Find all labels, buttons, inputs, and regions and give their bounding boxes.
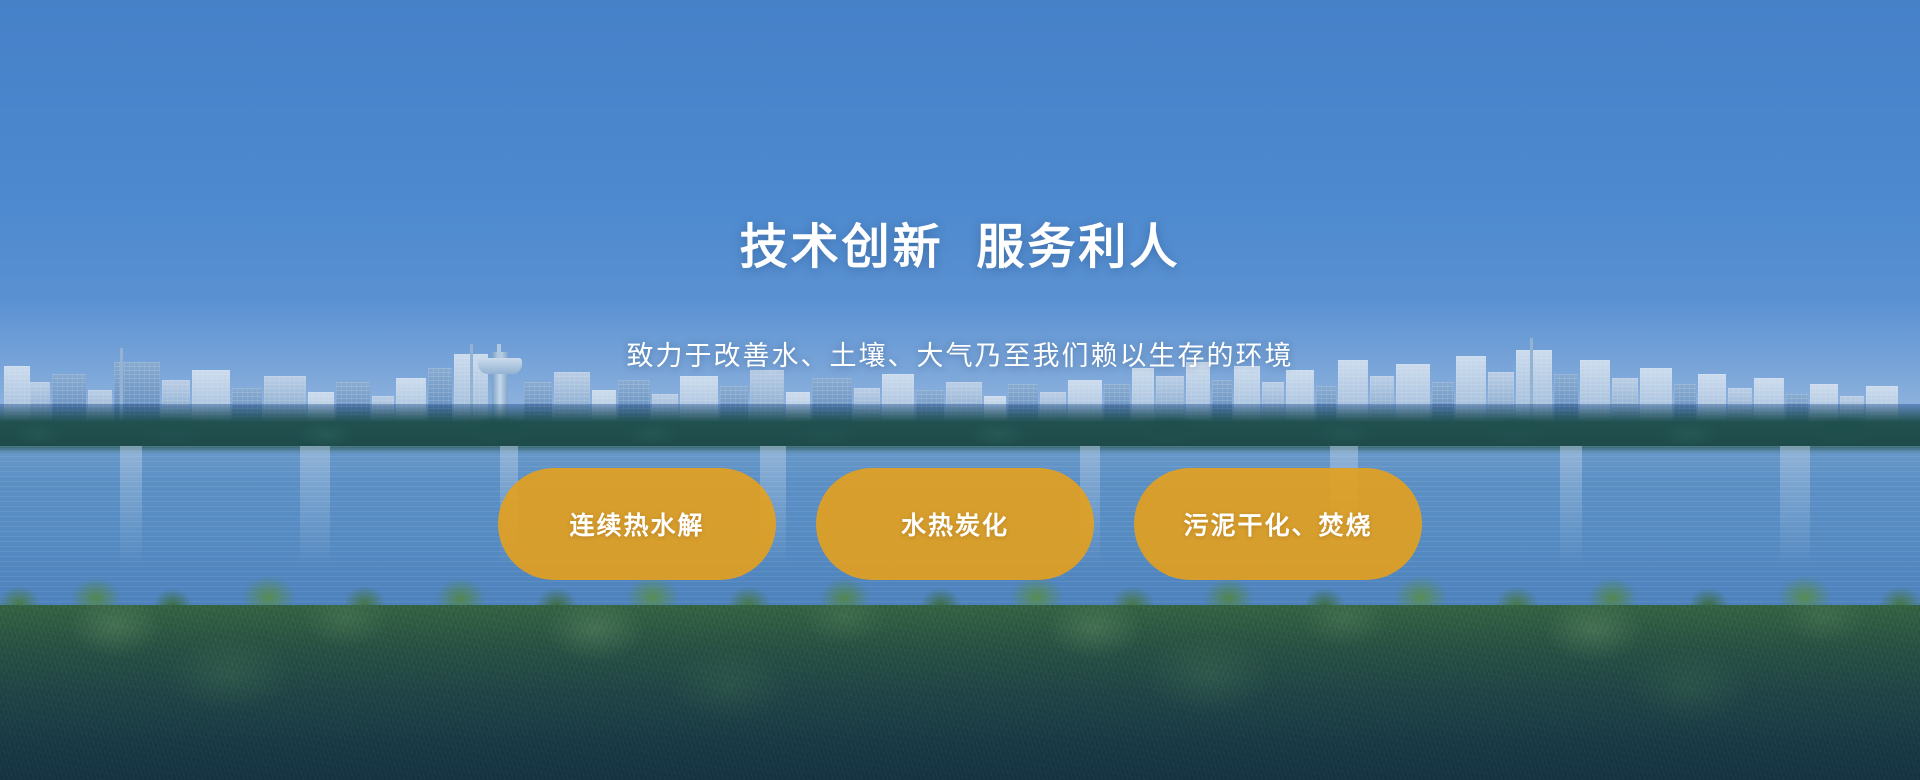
hero-button-group: 连续热水解 水热炭化 污泥干化、焚烧 xyxy=(0,468,1920,580)
vegetation-color-grade xyxy=(0,605,1920,780)
foreground-vegetation xyxy=(0,565,1920,780)
hero-button-hydrothermal-carbonization[interactable]: 水热炭化 xyxy=(816,468,1094,580)
hero-banner: 技术创新 服务利人 致力于改善水、土壤、大气乃至我们赖以生存的环境 连续热水解 … xyxy=(0,0,1920,780)
hero-button-continuous-thermal-hydrolysis[interactable]: 连续热水解 xyxy=(498,468,776,580)
vegetation-canopy xyxy=(0,605,1920,780)
observation-tower-cap xyxy=(478,358,522,374)
observation-tower-mast xyxy=(497,344,501,358)
hero-button-sludge-drying-incineration[interactable]: 污泥干化、焚烧 xyxy=(1134,468,1422,580)
far-tree-line xyxy=(0,404,1920,452)
